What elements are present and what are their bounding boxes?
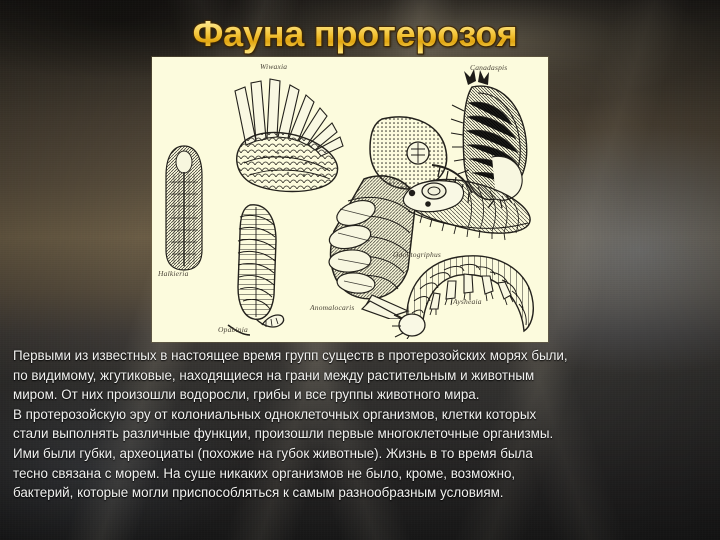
- body-line: по видимому, жгутиковые, находящиеся на …: [13, 366, 707, 386]
- wiwaxia-label: Wiwaxia: [260, 62, 287, 71]
- halkieria-label: Halkieria: [158, 269, 189, 278]
- slide-body-text: Первыми из известных в настоящее время г…: [13, 346, 707, 503]
- presentation-slide: Фауна протерозоя Фауна протерозоя: [0, 0, 720, 540]
- illustration-canvas: Halkieria: [152, 57, 548, 342]
- anomalocaris-label: Anomalocaris: [310, 303, 354, 312]
- body-line: бактерий, которые могли приспособляться …: [13, 483, 707, 503]
- odontogriphus-drawing: [388, 167, 538, 245]
- body-line: миром. От них произошли водоросли, грибы…: [13, 385, 707, 405]
- body-line: Ими были губки, археоциаты (похожие на г…: [13, 444, 707, 464]
- fauna-illustration: Halkieria: [152, 57, 548, 342]
- halkieria-drawing: [162, 142, 206, 272]
- aysheaia-label: Aysheaia: [453, 297, 482, 306]
- opabinia-label: Opabinia: [218, 325, 248, 334]
- canadaspis-label: Canadaspis: [470, 63, 507, 72]
- body-line: тесно связана с морем. На суше никаких о…: [13, 464, 707, 484]
- body-line: Первыми из известных в настоящее время г…: [13, 346, 707, 366]
- body-line: стали выполнять различные функции, произ…: [13, 424, 707, 444]
- body-line: В протерозойскую эру от колониальных одн…: [13, 405, 707, 425]
- slide-title: Фауна протерозоя: [140, 14, 570, 56]
- aysheaia-drawing: [390, 247, 540, 339]
- opabinia-drawing: [222, 199, 294, 339]
